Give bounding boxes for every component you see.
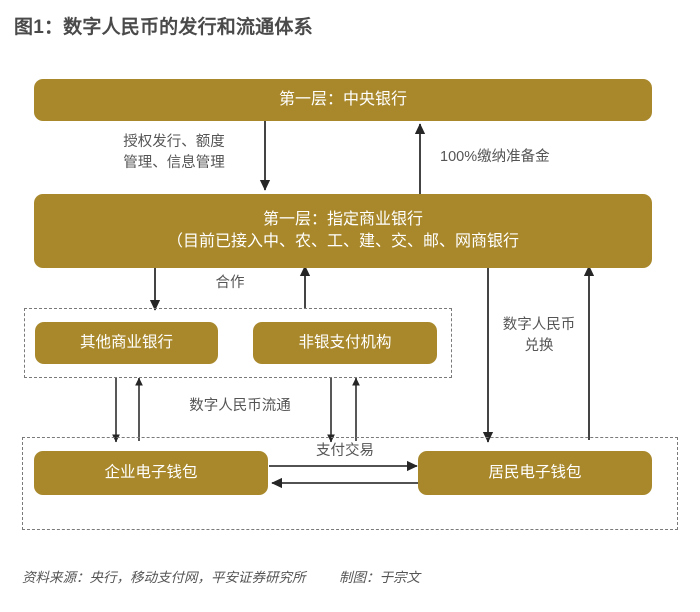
node-designated-banks-line1: 第一层：指定商业银行 — [263, 209, 423, 231]
edge-label-reserve: 100%缴纳准备金 — [440, 147, 610, 168]
node-resident-wallet-line1: 居民电子钱包 — [488, 463, 581, 484]
edge-label-ecny-exchange-line1: 数字人民币 — [503, 317, 576, 333]
node-nonbank-payment-line1: 非银支付机构 — [298, 333, 391, 354]
edge-label-authorize-issue: 授权发行、额度 管理、信息管理 — [94, 132, 254, 174]
edge-label-cooperation-line1: 合作 — [216, 275, 245, 291]
node-central-bank-line1: 第一层：中央银行 — [279, 89, 407, 111]
edge-label-cooperation: 合作 — [180, 273, 280, 294]
figure-title: 图1：数字人民币的发行和流通体系 — [14, 12, 313, 39]
node-resident-wallet[interactable]: 居民电子钱包 — [418, 451, 652, 495]
node-designated-banks[interactable]: 第一层：指定商业银行 （目前已接入中、农、工、建、交、邮、网商银行 — [34, 194, 652, 268]
edge-label-authorize-issue-line2: 管理、信息管理 — [123, 155, 225, 171]
figure-canvas: 图1：数字人民币的发行和流通体系 — [0, 0, 700, 612]
footer-credit: 制图：于宗文 — [339, 570, 420, 585]
node-other-commercial-banks[interactable]: 其他商业银行 — [35, 322, 218, 364]
edge-label-authorize-issue-line1: 授权发行、额度 — [123, 134, 225, 150]
node-enterprise-wallet[interactable]: 企业电子钱包 — [34, 451, 268, 495]
node-nonbank-payment[interactable]: 非银支付机构 — [253, 322, 437, 364]
edge-label-ecny-exchange-line2: 兑换 — [525, 338, 554, 354]
edge-label-ecny-circulation: 数字人民币流通 — [165, 396, 315, 417]
node-designated-banks-line2: （目前已接入中、农、工、建、交、邮、网商银行 — [167, 231, 519, 253]
edge-label-reserve-line1: 100%缴纳准备金 — [440, 149, 550, 165]
footer-source: 资料来源：央行，移动支付网，平安证券研究所 — [22, 570, 306, 585]
figure-footer: 资料来源：央行，移动支付网，平安证券研究所 制图：于宗文 — [22, 566, 420, 586]
node-other-commercial-banks-line1: 其他商业银行 — [80, 333, 173, 354]
edge-label-ecny-circulation-line1: 数字人民币流通 — [189, 398, 291, 414]
node-enterprise-wallet-line1: 企业电子钱包 — [104, 463, 197, 484]
node-central-bank[interactable]: 第一层：中央银行 — [34, 79, 652, 121]
edge-label-ecny-exchange: 数字人民币 兑换 — [498, 315, 580, 357]
